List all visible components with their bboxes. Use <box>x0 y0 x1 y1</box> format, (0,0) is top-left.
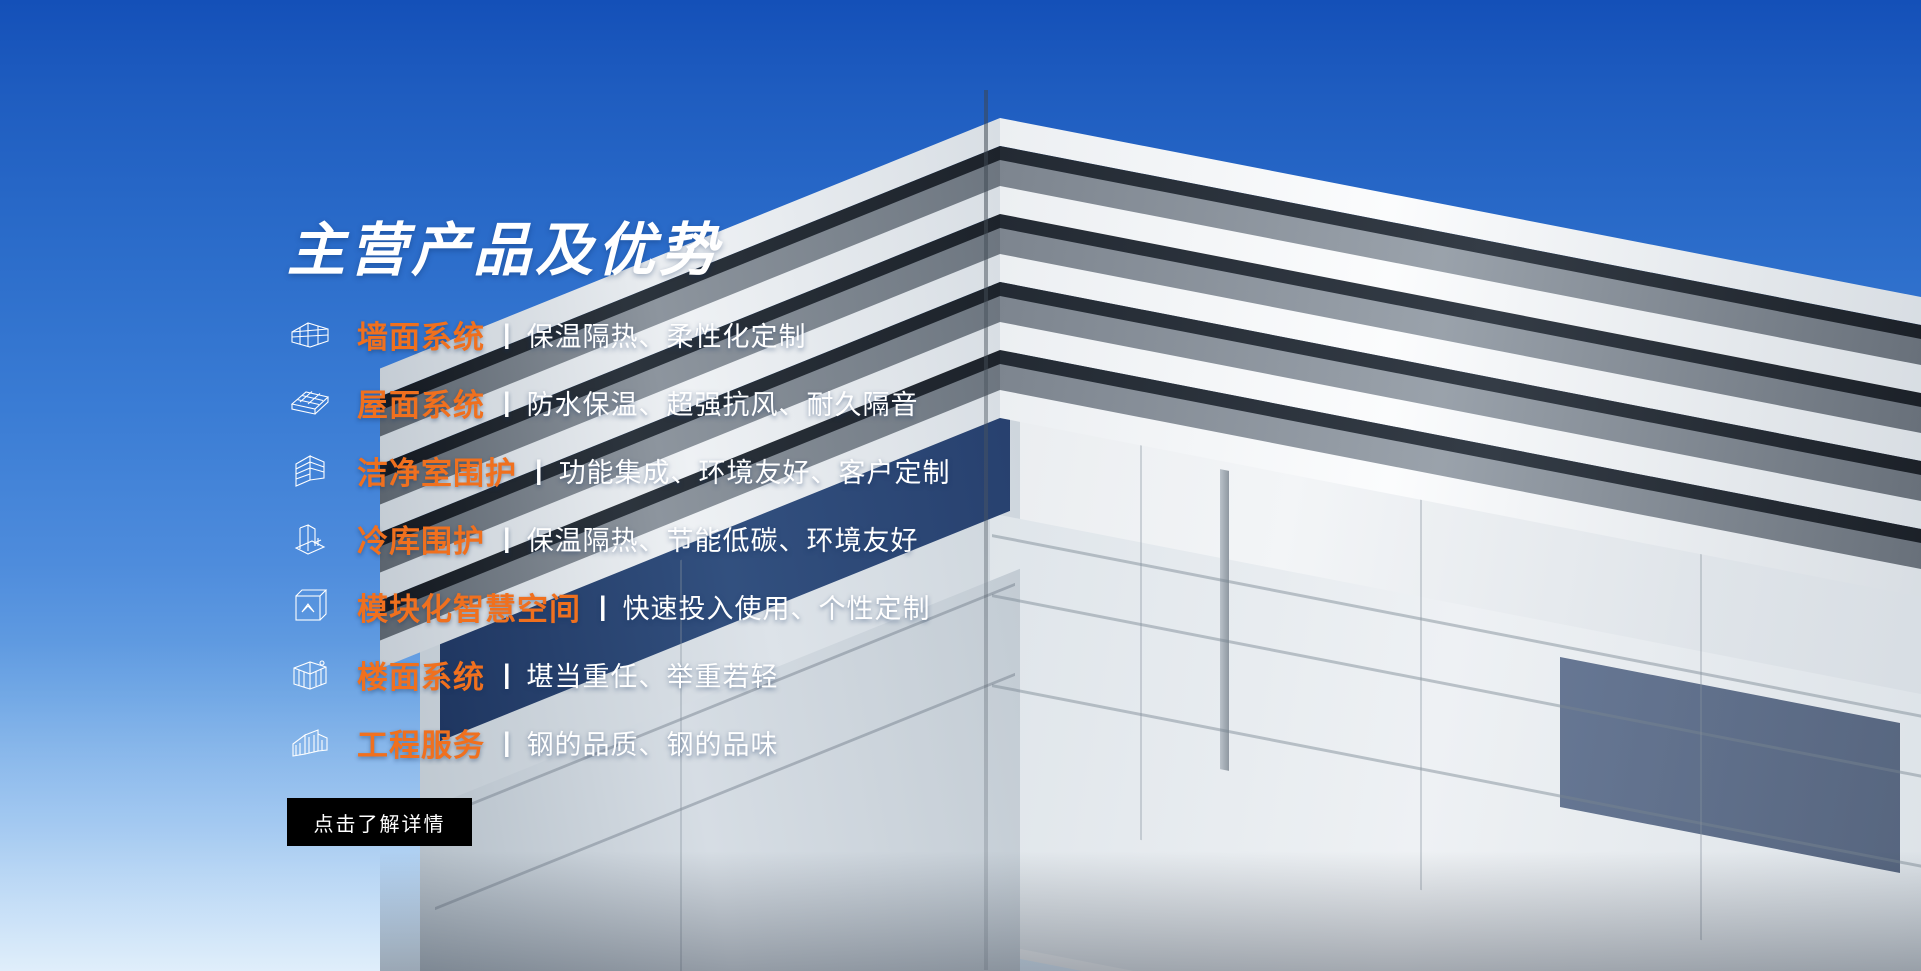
list-item-separator: | <box>503 659 511 690</box>
list-item[interactable]: 楼面系统 | 堪当重任、举重若轻 <box>287 640 1047 708</box>
list-item-description: 堪当重任、举重若轻 <box>527 655 779 694</box>
list-item-category: 工程服务 <box>357 720 485 765</box>
list-item-category: 屋面系统 <box>357 380 485 425</box>
modular-space-icon <box>287 583 333 629</box>
learn-more-button[interactable]: 点击了解详情 <box>287 798 472 846</box>
list-item[interactable]: 模块化智慧空间 | 快速投入使用、个性定制 <box>287 572 1047 640</box>
list-item-separator: | <box>599 591 607 622</box>
list-item-separator: | <box>503 387 511 418</box>
list-item[interactable]: 墙面系统 | 保温隔热、柔性化定制 <box>287 300 1047 368</box>
list-item-description: 快速投入使用、个性定制 <box>623 587 931 626</box>
list-item-category: 洁净室围护 <box>357 448 517 493</box>
list-item-description: 保温隔热、节能低碳、环境友好 <box>527 519 919 558</box>
list-item-separator: | <box>535 455 543 486</box>
list-item[interactable]: 冷库围护 | 保温隔热、节能低碳、环境友好 <box>287 504 1047 572</box>
list-item[interactable]: 洁净室围护 | 功能集成、环境友好、客户定制 <box>287 436 1047 504</box>
list-item-description: 保温隔热、柔性化定制 <box>527 315 807 354</box>
list-item[interactable]: 屋面系统 | 防水保温、超强抗风、耐久隔音 <box>287 368 1047 436</box>
cold-storage-icon <box>287 515 333 561</box>
building-panel-seam <box>1420 470 1422 890</box>
cleanroom-icon <box>287 447 333 493</box>
page-title: 主营产品及优势 <box>287 203 721 287</box>
list-item-category: 模块化智慧空间 <box>357 584 581 629</box>
wall-system-icon <box>287 311 333 357</box>
engineering-service-icon <box>287 719 333 765</box>
list-item-separator: | <box>503 523 511 554</box>
roof-system-icon <box>287 379 333 425</box>
list-item-description: 防水保温、超强抗风、耐久隔音 <box>527 383 919 422</box>
product-list: 墙面系统 | 保温隔热、柔性化定制 屋面系统 | 防水保温、超强抗风、耐久隔音 <box>287 300 1047 776</box>
hero-banner: 主营产品及优势 墙面系统 | 保温隔热、柔性化定制 <box>0 0 1921 971</box>
hero-content: 主营产品及优势 墙面系统 | 保温隔热、柔性化定制 <box>0 0 1000 971</box>
list-item-description: 钢的品质、钢的品味 <box>527 723 779 762</box>
list-item-category: 楼面系统 <box>357 652 485 697</box>
list-item-separator: | <box>503 727 511 758</box>
list-item-category: 墙面系统 <box>357 312 485 357</box>
floor-system-icon <box>287 651 333 697</box>
list-item-category: 冷库围护 <box>357 516 485 561</box>
list-item[interactable]: 工程服务 | 钢的品质、钢的品味 <box>287 708 1047 776</box>
list-item-description: 功能集成、环境友好、客户定制 <box>559 451 951 490</box>
list-item-separator: | <box>503 319 511 350</box>
